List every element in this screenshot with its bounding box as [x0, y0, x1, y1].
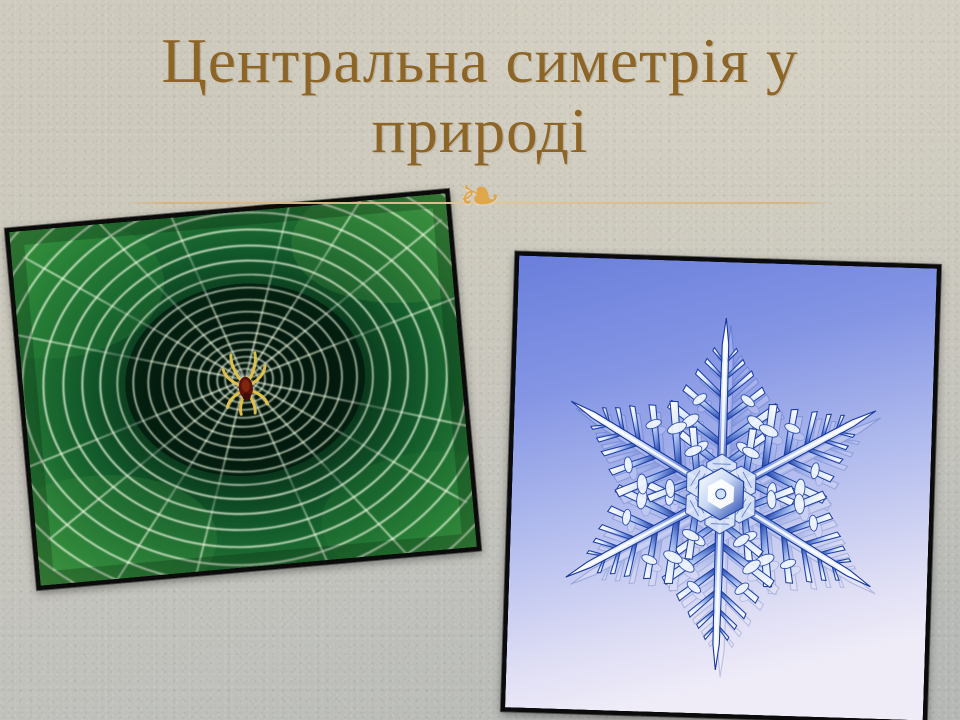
decorative-flourish-ornament: ❧	[0, 171, 960, 221]
title-line-1: Центральна симетрія у	[0, 26, 960, 96]
spider-web-illustration	[9, 193, 477, 586]
title-divider-rule	[125, 202, 835, 204]
title-line-2: природі	[0, 96, 960, 166]
ornament-glyph: ❧	[459, 167, 501, 225]
spider-web-photo[interactable]	[5, 189, 482, 590]
page-title: Центральна симетрія у природі	[0, 26, 960, 166]
snowflake-photo[interactable]	[501, 251, 941, 720]
snowflake-illustration	[505, 256, 937, 720]
presentation-slide: Центральна симетрія у природі ❧	[0, 0, 960, 720]
